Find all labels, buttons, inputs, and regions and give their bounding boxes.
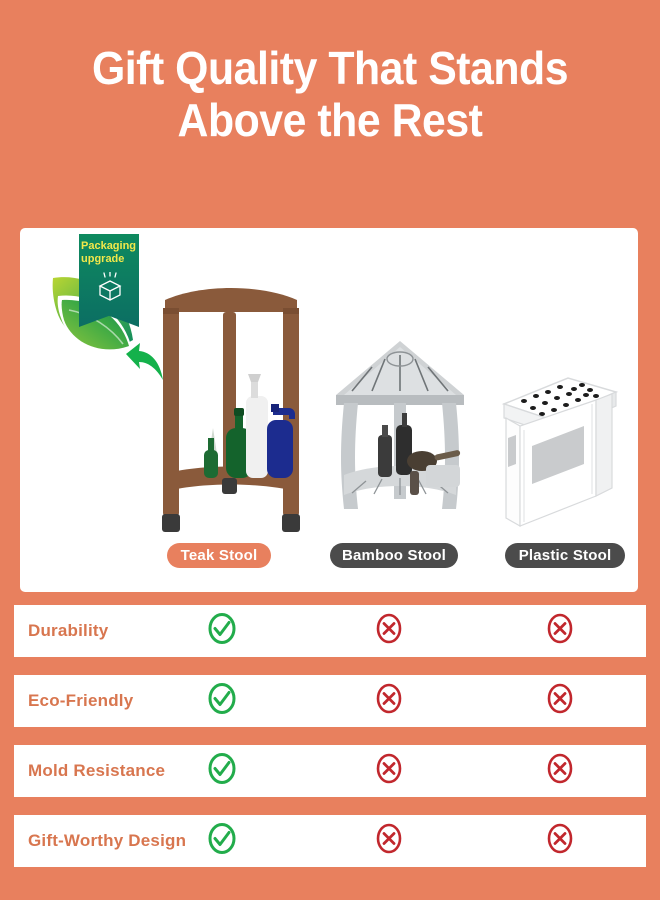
- page-title: Gift Quality That Stands Above the Rest: [23, 42, 637, 146]
- cross-circle-icon: [374, 682, 404, 721]
- table-row: Eco-Friendly: [14, 675, 646, 727]
- cross-circle-icon: [545, 682, 575, 721]
- check-circle-icon: [207, 682, 237, 721]
- curved-arrow-icon: [122, 342, 166, 384]
- product-image-plastic-stool: [496, 368, 621, 533]
- badge-text-line-1: Packaging: [81, 240, 143, 253]
- badge-text: Packaging upgrade: [79, 240, 143, 266]
- product-showcase-card: Packaging upgrade: [20, 228, 638, 592]
- product-label-bamboo-stool[interactable]: Bamboo Stool: [330, 543, 458, 568]
- product-label-plastic-stool[interactable]: Plastic Stool: [505, 543, 625, 568]
- table-row: Durability: [14, 605, 646, 657]
- cross-circle-icon: [374, 612, 404, 651]
- cross-circle-icon: [545, 612, 575, 651]
- cross-circle-icon: [545, 752, 575, 791]
- feature-label-gift-worthy-design: Gift-Worthy Design: [28, 831, 186, 851]
- page-title-line-2: Above the Rest: [23, 94, 637, 146]
- table-row: Mold Resistance: [14, 745, 646, 797]
- check-circle-icon: [207, 752, 237, 791]
- product-image-bamboo-stool: [330, 333, 470, 548]
- product-label-teak-stool[interactable]: Teak Stool: [167, 543, 271, 568]
- feature-label-mold-resistance: Mold Resistance: [28, 761, 165, 781]
- table-row: Gift-Worthy Design: [14, 815, 646, 867]
- check-circle-icon: [207, 822, 237, 861]
- check-circle-icon: [207, 612, 237, 651]
- page-title-line-1: Gift Quality That Stands: [23, 42, 637, 94]
- cross-circle-icon: [545, 822, 575, 861]
- feature-label-eco-friendly: Eco-Friendly: [28, 691, 133, 711]
- cross-circle-icon: [374, 752, 404, 791]
- feature-label-durability: Durability: [28, 621, 108, 641]
- cross-circle-icon: [374, 822, 404, 861]
- package-box-icon: [96, 272, 124, 302]
- infographic-page: Gift Quality That Stands Above the Rest: [0, 0, 660, 900]
- badge-text-line-2: upgrade: [81, 253, 143, 266]
- product-image-teak-stool: [151, 278, 311, 548]
- comparison-table: Durability Eco-Friendly Mold: [14, 605, 646, 885]
